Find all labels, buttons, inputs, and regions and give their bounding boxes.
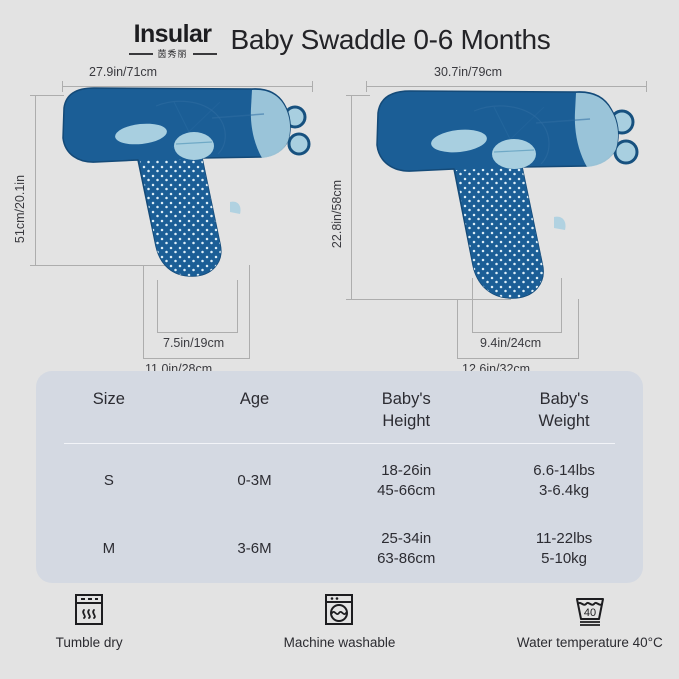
size-s-inner-tick-left: [157, 280, 158, 333]
fastener-patch-center-s: [174, 132, 214, 160]
size-m-inner-line: [472, 332, 562, 333]
table-header-divider: [64, 443, 615, 444]
logo-dash-left: [129, 53, 153, 55]
size-m-outer-line: [457, 358, 579, 359]
cell-weight-lb: 6.6-14lbs: [485, 461, 643, 481]
care-label-water-temperature: Water temperature 40°C: [517, 635, 663, 650]
size-s-height-label: 51cm/20.1in: [13, 164, 27, 254]
column-header-height: Baby's Height: [327, 371, 485, 447]
water-temperature-icon: 40: [570, 592, 610, 628]
water-temperature-value: 40: [584, 607, 596, 619]
size-m-inner-tick-right: [561, 278, 562, 333]
care-label-tumble-dry: Tumble dry: [56, 635, 123, 650]
brand-logo: Insular 茵秀丽: [129, 22, 217, 59]
size-m-height-label: 22.8in/58cm: [330, 169, 344, 259]
fastener-patch-center-m: [492, 139, 536, 169]
column-header-weight-line1: Baby's: [485, 389, 643, 411]
column-header-weight-line2: Weight: [485, 411, 643, 433]
size-s-inner-line: [157, 332, 238, 333]
size-m-inner-width-label: 9.4in/24cm: [480, 336, 541, 350]
size-s-outer-tick-left: [143, 265, 144, 359]
column-header-height-line1: Baby's: [327, 389, 485, 411]
table-header-row: Size Age Baby's Height Baby's Weight: [36, 371, 643, 447]
column-header-age: Age: [182, 371, 328, 447]
size-chart-table: Size Age Baby's Height Baby's Weight S 0…: [36, 371, 643, 584]
care-item-tumble-dry: Tumble dry: [0, 592, 178, 650]
size-s-height-line: [35, 95, 36, 265]
cell-weight-lb: 11-22lbs: [485, 529, 643, 549]
size-s-diagram: 27.9in/71cm 51cm/20.1in: [0, 62, 340, 367]
care-item-machine-washable: Machine washable: [250, 592, 428, 650]
cell-weight-kg: 3-6.4kg: [485, 481, 643, 501]
brand-name-chinese: 茵秀丽: [158, 50, 188, 59]
cell-height: 18-26in 45-66cm: [327, 447, 485, 516]
page-title: Baby Swaddle 0-6 Months: [231, 24, 551, 56]
column-header-size: Size: [36, 371, 182, 447]
size-m-width-label: 30.7in/79cm: [434, 65, 502, 79]
logo-dash-right: [193, 53, 217, 55]
header: Insular 茵秀丽 Baby Swaddle 0-6 Months: [0, 14, 679, 66]
swaddle-illustration-s: [52, 84, 324, 284]
infographic-page: Insular 茵秀丽 Baby Swaddle 0-6 Months 27.9…: [0, 0, 679, 679]
diagram-section: 27.9in/71cm 51cm/20.1in: [0, 62, 679, 367]
size-m-height-line: [351, 95, 352, 300]
brand-subtitle: 茵秀丽: [129, 50, 217, 59]
size-s-inner-width-label: 7.5in/19cm: [163, 336, 224, 350]
table-row: M 3-6M 25-34in 63-86cm 11-22lbs 5-10kg: [36, 515, 643, 584]
side-tab-s: [230, 202, 241, 214]
column-header-weight: Baby's Weight: [485, 371, 643, 447]
column-header-height-line2: Height: [327, 411, 485, 433]
size-s-outer-tick-right: [249, 265, 250, 359]
cell-height-cm: 45-66cm: [327, 481, 485, 501]
tumble-dry-icon: [72, 592, 106, 628]
cell-weight: 11-22lbs 5-10kg: [485, 515, 643, 584]
care-label-machine-washable: Machine washable: [284, 635, 396, 650]
brand-name: Insular: [134, 22, 212, 47]
size-s-width-label: 27.9in/71cm: [89, 65, 157, 79]
size-m-outer-tick-right: [578, 299, 579, 359]
cell-age: 0-3M: [182, 447, 328, 516]
size-s-inner-tick-right: [237, 280, 238, 333]
cell-age: 3-6M: [182, 515, 328, 584]
size-m-inner-tick-left: [472, 278, 473, 333]
cell-height-in: 25-34in: [327, 529, 485, 549]
size-m-outer-tick-left: [457, 299, 458, 359]
cell-size: S: [36, 447, 182, 516]
cell-size: M: [36, 515, 182, 584]
care-item-water-temperature: 40 Water temperature 40°C: [501, 592, 679, 650]
side-tab-m: [554, 217, 566, 230]
cell-height-in: 18-26in: [327, 461, 485, 481]
table-row: S 0-3M 18-26in 45-66cm 6.6-14lbs 3-6.4kg: [36, 447, 643, 516]
size-m-diagram: 30.7in/79cm 22.8in/58cm: [330, 62, 679, 367]
cell-weight: 6.6-14lbs 3-6.4kg: [485, 447, 643, 516]
size-s-outer-line: [143, 358, 250, 359]
swaddle-illustration-m: [364, 87, 654, 307]
cell-height-cm: 63-86cm: [327, 549, 485, 569]
machine-washable-icon: [322, 592, 356, 628]
cell-weight-kg: 5-10kg: [485, 549, 643, 569]
care-instructions: Tumble dry Machine washable 40 Water tem: [0, 592, 679, 664]
size-chart-panel: Size Age Baby's Height Baby's Weight S 0…: [36, 371, 643, 583]
cell-height: 25-34in 63-86cm: [327, 515, 485, 584]
